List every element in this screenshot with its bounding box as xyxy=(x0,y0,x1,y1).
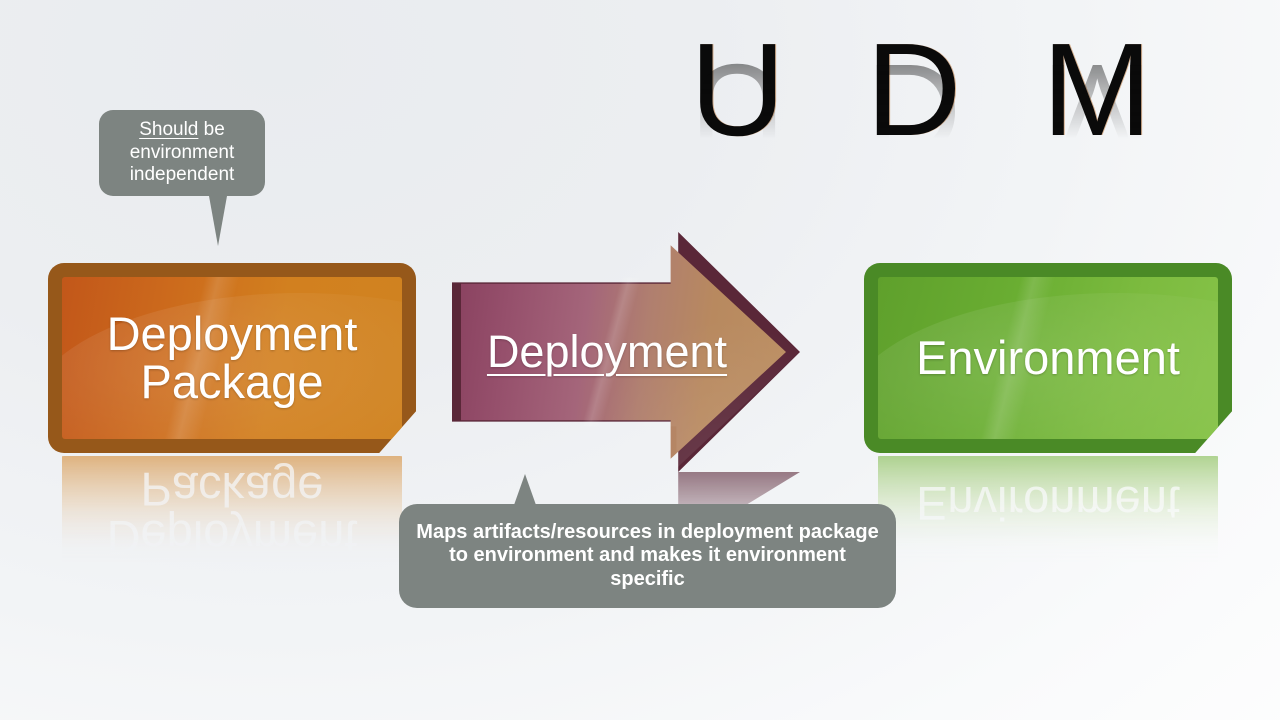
callout-tail-up-icon xyxy=(514,474,536,505)
deployment-arrow-label: Deployment xyxy=(472,326,742,378)
callout-emphasis-word: Should xyxy=(139,119,198,140)
deployment-arrow[interactable]: Deployment xyxy=(452,232,800,472)
reflection-label: Environment xyxy=(916,479,1180,527)
page-title-reflection: U D M xyxy=(690,44,1174,176)
slide-canvas: U D M U D M Deployment Package Environme… xyxy=(0,0,1280,720)
deployment-package-reflection: Deployment Package xyxy=(48,456,416,606)
deployment-package-box[interactable]: Deployment Package xyxy=(48,263,416,453)
callout-package-note[interactable]: Should be environment independent xyxy=(99,110,265,196)
callout-arrow-text: Maps artifacts/resources in deployment p… xyxy=(399,521,896,592)
callout-tail-down-icon xyxy=(209,196,227,246)
callout-package-text: Should be environment independent xyxy=(99,113,265,192)
slide-title-group: U D M U D M xyxy=(690,24,1210,244)
reflection-label: Deployment Package xyxy=(48,465,416,561)
deployment-package-label: Deployment Package xyxy=(48,310,416,406)
environment-reflection: Environment xyxy=(864,456,1232,606)
callout-arrow-note[interactable]: Maps artifacts/resources in deployment p… xyxy=(399,504,896,608)
environment-box[interactable]: Environment xyxy=(864,263,1232,453)
environment-label: Environment xyxy=(906,334,1190,382)
